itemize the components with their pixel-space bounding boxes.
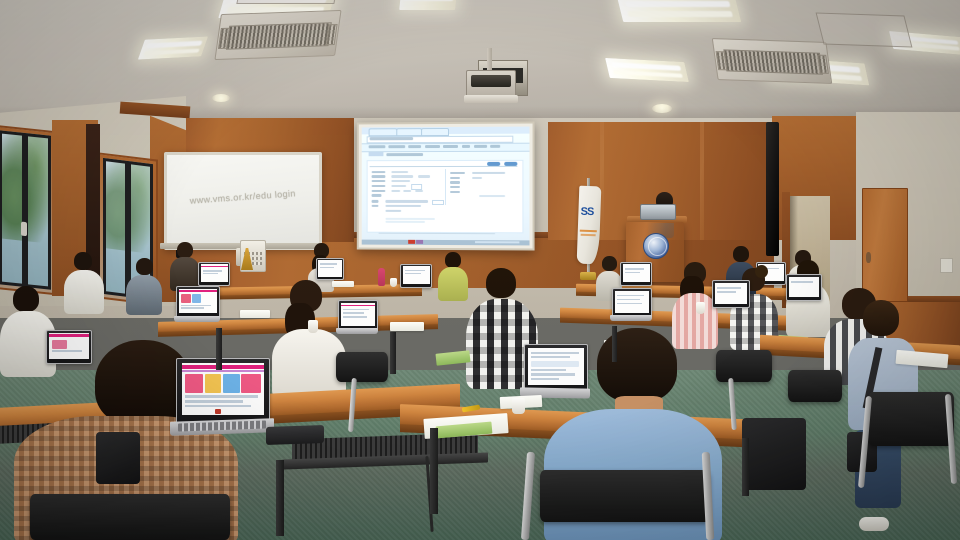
laptop-screen[interactable] <box>316 258 344 280</box>
window-left-outer <box>0 125 56 296</box>
handout <box>240 310 270 318</box>
whiteboard[interactable]: www.vms.or.kr/edu login <box>164 152 322 250</box>
ceiling-projector <box>466 70 516 98</box>
nav-item[interactable] <box>443 145 458 148</box>
chair-back[interactable] <box>788 370 842 402</box>
laptop-screen[interactable] <box>712 280 750 308</box>
desk-leg <box>430 428 438 514</box>
flag-stand <box>580 272 596 280</box>
laptop-base[interactable] <box>336 328 378 334</box>
whiteboard-text: www.vms.or.kr/edu login <box>185 188 301 206</box>
attendee-back-2 <box>64 252 104 312</box>
laptop-base[interactable] <box>174 316 220 322</box>
laptop-screen[interactable] <box>400 264 432 288</box>
water-bottle <box>378 268 385 286</box>
ceiling-light-panel <box>399 0 457 10</box>
desk-leg <box>612 326 617 362</box>
lectern-emblem <box>643 233 669 259</box>
mousepad <box>266 425 324 445</box>
paper-cup <box>308 320 318 333</box>
ceiling-light-panel <box>605 58 689 82</box>
inline-button[interactable] <box>432 200 444 206</box>
laptop-screen[interactable] <box>524 344 588 392</box>
breadcrumb-highlight <box>368 153 383 157</box>
primary-button[interactable] <box>487 162 501 166</box>
ceiling-downlight <box>652 104 672 113</box>
wall-outlet[interactable] <box>940 258 953 273</box>
attendee-back-3 <box>126 258 162 314</box>
wood-panel-seam <box>600 122 604 240</box>
backpack <box>742 418 806 490</box>
window-left-handle[interactable] <box>21 222 27 237</box>
os-taskbar[interactable] <box>362 239 530 245</box>
nav-item[interactable] <box>490 145 500 148</box>
wall-speaker-right <box>766 122 779 256</box>
laptop-screen[interactable] <box>786 274 822 301</box>
ceiling-ac-vent <box>214 10 341 60</box>
desk-leg <box>216 328 222 370</box>
flag-logo-text: SS <box>580 206 593 218</box>
laptop-screen[interactable] <box>198 262 230 286</box>
ceiling-access-panel <box>236 0 337 4</box>
paper-cup <box>696 302 705 314</box>
laptop-screen[interactable] <box>612 288 652 317</box>
nav-item[interactable] <box>462 145 470 148</box>
ceiling-downlight <box>212 94 230 102</box>
nav-item[interactable] <box>474 145 488 148</box>
side-door[interactable] <box>862 188 908 302</box>
nav-item[interactable] <box>388 145 405 148</box>
attendee-back-5 <box>438 252 468 300</box>
laptop-screen[interactable] <box>176 286 220 318</box>
attendee-back-1 <box>170 242 200 290</box>
head <box>597 328 677 402</box>
paper-cup <box>512 398 525 414</box>
laptop-screen[interactable] <box>620 262 652 286</box>
bag-under-desk <box>96 432 140 484</box>
handout <box>390 322 424 331</box>
laptop-screen[interactable] <box>176 358 270 424</box>
breadcrumb-text <box>387 153 424 156</box>
ceiling-light-panel <box>617 0 741 22</box>
projected-application <box>362 127 530 246</box>
shoe <box>859 517 889 531</box>
wood-panel-seam <box>700 122 704 240</box>
desk-leg <box>742 438 749 496</box>
chair-back[interactable] <box>30 494 230 540</box>
chair-back[interactable] <box>868 392 954 446</box>
nav-item[interactable] <box>408 145 421 148</box>
lectern-monitor <box>640 204 676 220</box>
attendee-mid-2 <box>272 280 346 396</box>
laptop-screen[interactable] <box>338 300 378 330</box>
secondary-button[interactable] <box>504 162 518 166</box>
projection-screen <box>357 121 535 250</box>
laptop-screen[interactable] <box>46 330 92 364</box>
projector-mount <box>487 48 492 70</box>
laptop-base[interactable] <box>610 315 652 321</box>
classroom-photo: www.vms.or.kr/edu login <box>0 0 960 540</box>
ceiling-light-panel <box>138 36 208 59</box>
laptop-keyboard[interactable] <box>178 420 265 431</box>
ceiling-access-panel <box>816 12 913 47</box>
chair-back[interactable] <box>336 352 388 382</box>
paper-cup <box>390 278 397 287</box>
nav-item[interactable] <box>425 145 440 148</box>
laptop-webpage[interactable] <box>182 363 265 415</box>
desk-leg <box>390 332 396 374</box>
desk-leg <box>276 460 284 536</box>
chair-back[interactable] <box>716 350 772 382</box>
door-handle[interactable] <box>866 252 871 263</box>
nav-item[interactable] <box>368 145 385 148</box>
lectern-emblem-text <box>644 241 668 246</box>
chair-back[interactable] <box>540 470 710 522</box>
ceiling-ac-vent <box>712 38 833 84</box>
